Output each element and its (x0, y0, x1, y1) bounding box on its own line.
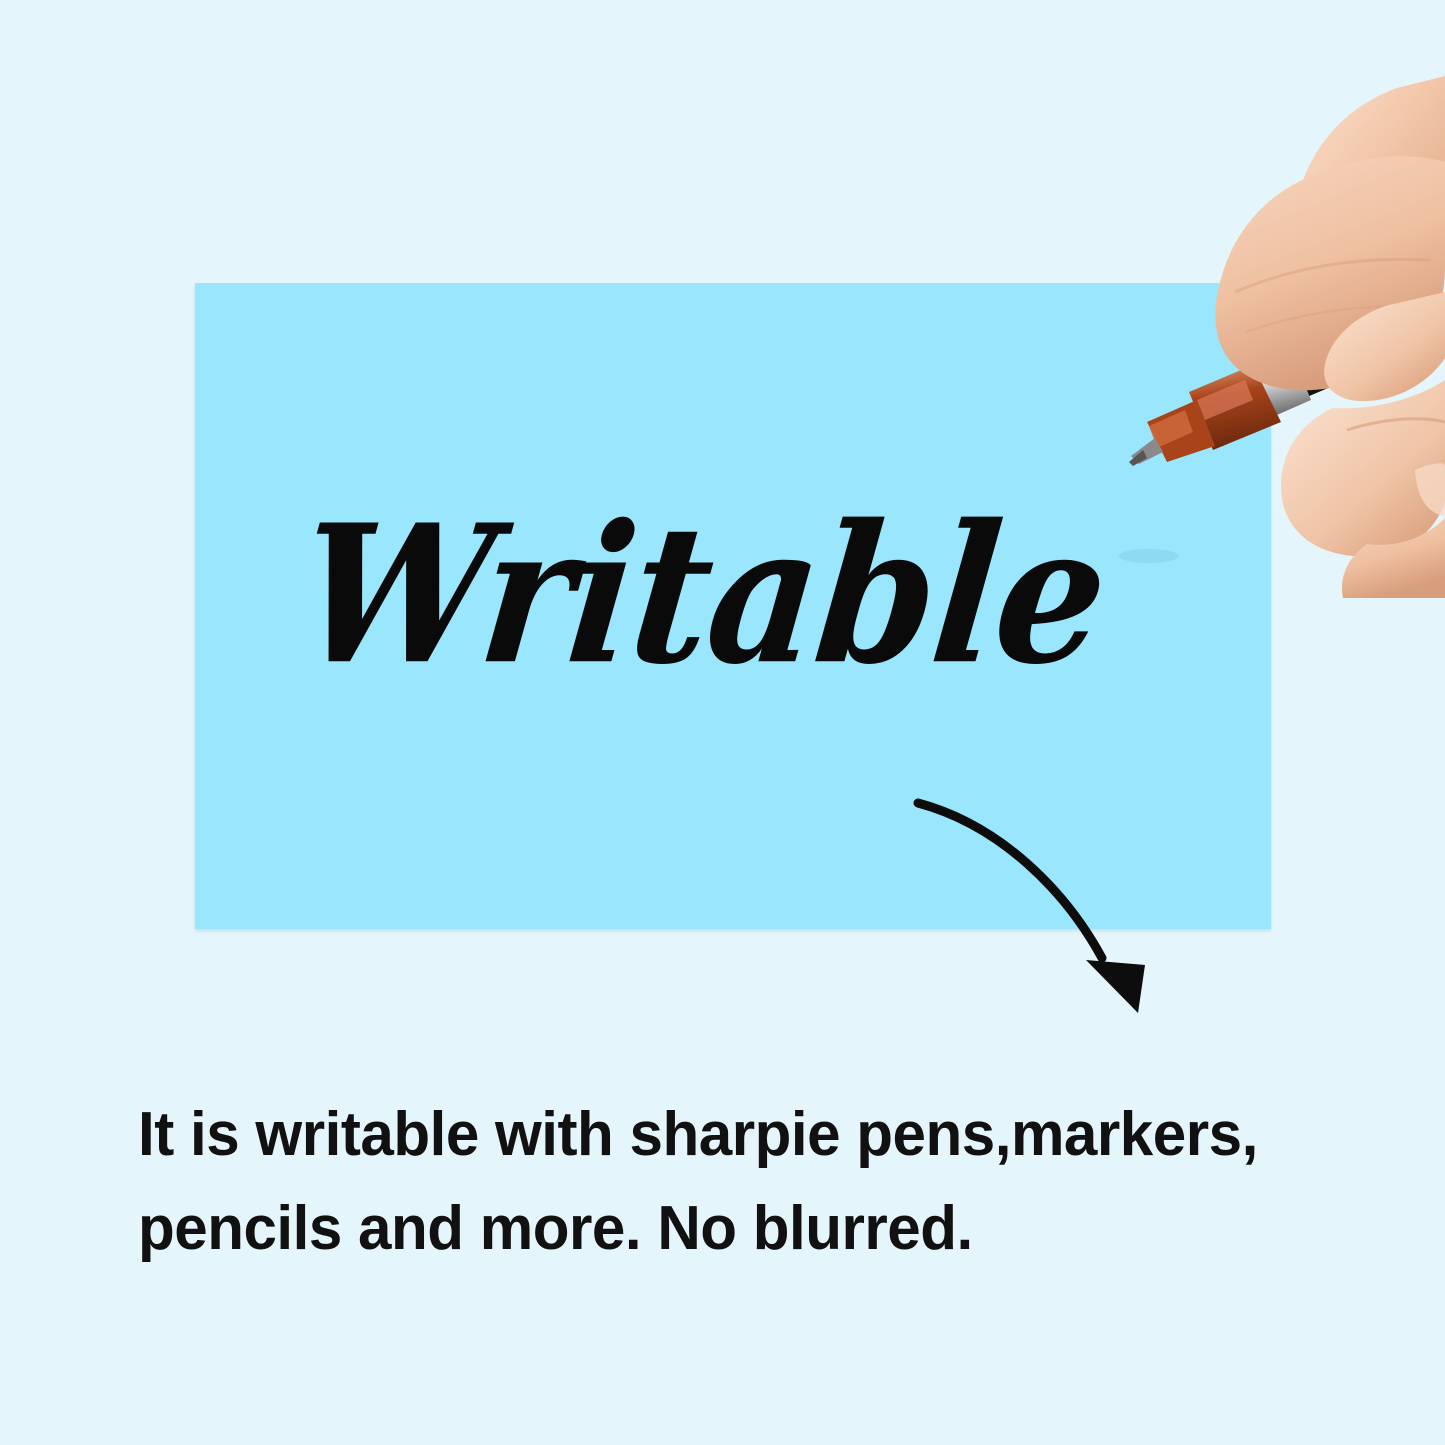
product-feature-graphic: Writable (0, 0, 1445, 1445)
curved-arrow (880, 770, 1180, 1020)
hand-holding-pen (1085, 70, 1445, 610)
caption-line-2: pencils and more. No blurred. (138, 1182, 1370, 1276)
caption-line-1: It is writable with sharpie pens,markers… (138, 1088, 1370, 1182)
hand (1215, 76, 1445, 598)
caption-text: It is writable with sharpie pens,markers… (138, 1088, 1370, 1276)
